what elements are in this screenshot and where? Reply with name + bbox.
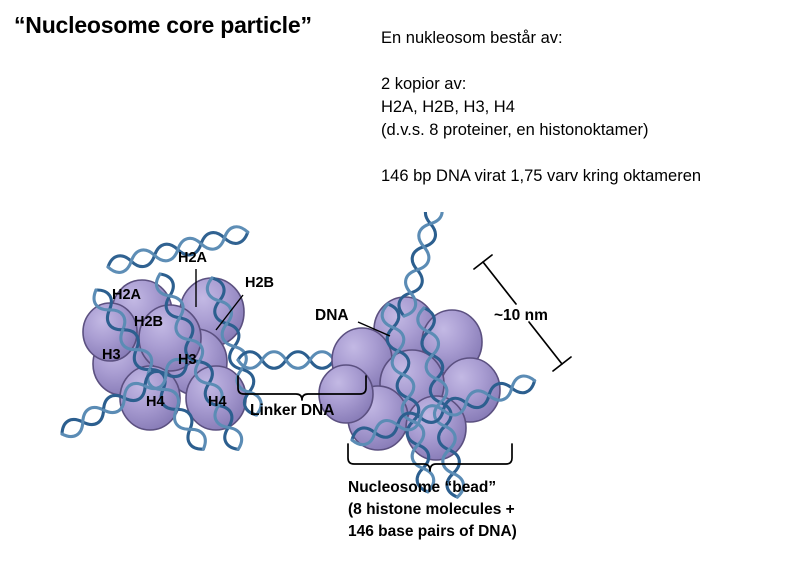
label-linker-dna: Linker DNA	[250, 402, 334, 419]
text-intro: En nukleosom består av:	[381, 27, 781, 50]
label-h4-right: H4	[208, 394, 227, 410]
scale-cap-upper	[474, 255, 492, 269]
label-scale: ~10 nm	[494, 307, 548, 324]
page-title: “Nucleosome core particle”	[14, 12, 312, 39]
label-h3-mid: H3	[178, 352, 197, 368]
text-spacer-1	[381, 50, 781, 73]
label-h2b-right: H2B	[245, 275, 274, 291]
caption-line-3: 146 base pairs of DNA)	[348, 523, 517, 540]
text-composition-line-3: (d.v.s. 8 proteiner, en histonoktamer)	[381, 119, 781, 142]
label-dna: DNA	[315, 307, 349, 324]
text-spacer-2	[381, 142, 781, 165]
left-nucleosome	[58, 224, 264, 454]
slide-canvas: “Nucleosome core particle” En nukleosom …	[0, 0, 802, 574]
label-h2b-inner: H2B	[134, 314, 163, 330]
right-nucleosome	[319, 212, 537, 499]
body-text-block: En nukleosom består av: 2 kopior av: H2A…	[381, 27, 781, 188]
label-h2a-top: H2A	[178, 250, 208, 266]
label-h2a-left: H2A	[112, 287, 142, 303]
text-dna-note: 146 bp DNA virat 1,75 varv kring oktamer…	[381, 165, 781, 188]
caption-line-1: Nucleosome “bead”	[348, 479, 496, 496]
text-composition-line-1: 2 kopior av:	[381, 73, 781, 96]
scale-line-upper	[483, 262, 516, 304]
label-h3-left: H3	[102, 347, 121, 363]
nucleosome-diagram: H2A H2A H2B H2B H3 H3 H4 H4 Linker DNA D…	[0, 212, 640, 562]
label-h4-left: H4	[146, 394, 165, 410]
caption-line-2: (8 histone molecules +	[348, 501, 515, 518]
scale-cap-lower	[553, 357, 571, 371]
scale-line-lower	[529, 322, 562, 364]
text-composition-line-2: H2A, H2B, H3, H4	[381, 96, 781, 119]
scale-bar: ~10 nm	[474, 255, 571, 371]
